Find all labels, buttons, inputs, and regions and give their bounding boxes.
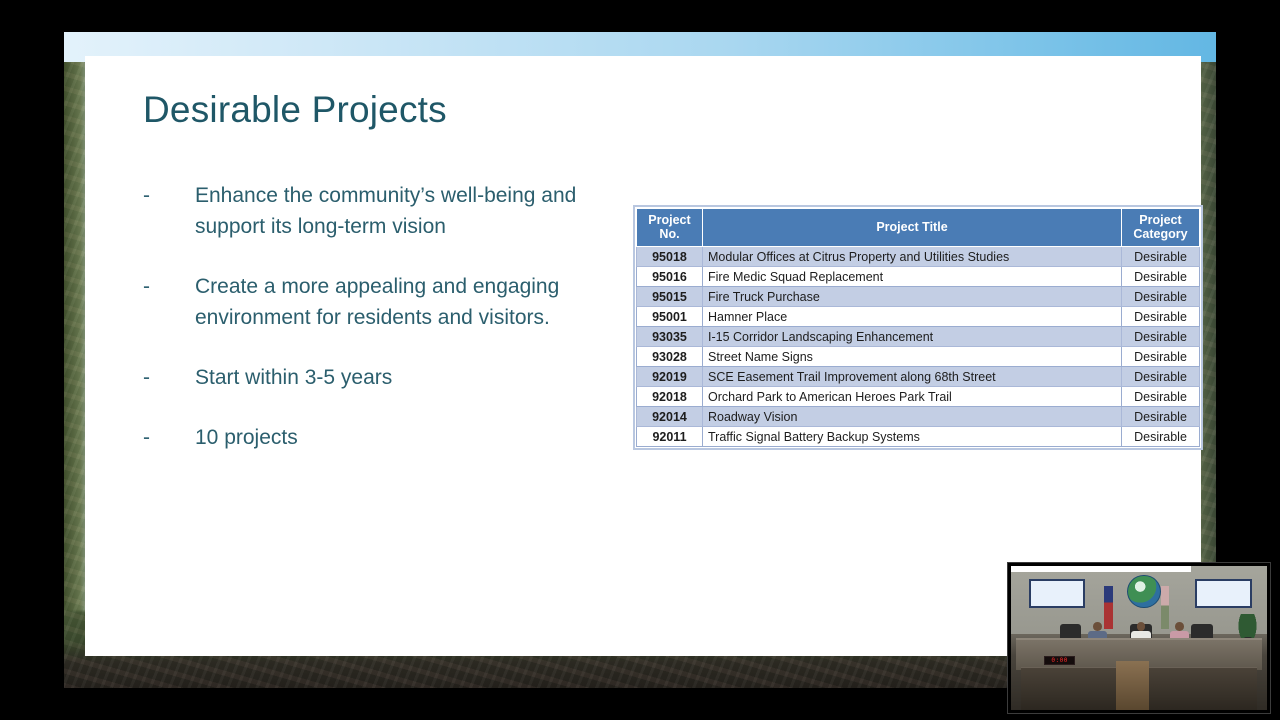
cell-project-category: Desirable — [1122, 247, 1200, 267]
speaker-timer-display: 0:00 — [1044, 656, 1075, 665]
cell-project-no: 92018 — [637, 387, 703, 407]
table-row: 92014 Roadway Vision Desirable — [637, 407, 1200, 427]
cell-project-title: Street Name Signs — [703, 347, 1122, 367]
cell-project-title: Modular Offices at Citrus Property and U… — [703, 247, 1122, 267]
state-flag-icon — [1161, 586, 1169, 629]
table-row: 92011 Traffic Signal Battery Backup Syst… — [637, 427, 1200, 447]
cell-project-title: Traffic Signal Battery Backup Systems — [703, 427, 1122, 447]
cell-project-category: Desirable — [1122, 367, 1200, 387]
person-head — [1137, 622, 1146, 630]
bullet-marker: - — [143, 362, 195, 393]
table-row: 92019 SCE Easement Trail Improvement alo… — [637, 367, 1200, 387]
list-item: - Enhance the community’s well-being and… — [143, 180, 603, 242]
bullet-marker: - — [143, 422, 195, 453]
bullet-marker: - — [143, 271, 195, 333]
bullet-marker: - — [143, 180, 195, 242]
desirable-projects-table: Project No. Project Title Project Catego… — [633, 205, 1203, 450]
cell-project-title: Fire Medic Squad Replacement — [703, 267, 1122, 287]
cell-project-category: Desirable — [1122, 387, 1200, 407]
bullet-text: Create a more appealing and engaging env… — [195, 271, 603, 333]
cell-project-category: Desirable — [1122, 287, 1200, 307]
cell-project-category: Desirable — [1122, 327, 1200, 347]
cell-project-title: Fire Truck Purchase — [703, 287, 1122, 307]
column-header-project-category: Project Category — [1122, 209, 1200, 247]
cell-project-category: Desirable — [1122, 267, 1200, 287]
cell-project-no: 95018 — [637, 247, 703, 267]
table-row: 92018 Orchard Park to American Heroes Pa… — [637, 387, 1200, 407]
cell-project-no: 92019 — [637, 367, 703, 387]
bullet-text: Start within 3-5 years — [195, 362, 603, 393]
cell-project-no: 95001 — [637, 307, 703, 327]
cell-project-title: Roadway Vision — [703, 407, 1122, 427]
cell-project-title: Hamner Place — [703, 307, 1122, 327]
table-row: 95018 Modular Offices at Citrus Property… — [637, 247, 1200, 267]
video-overlay[interactable]: 0:00 — [1008, 563, 1270, 713]
bullet-text: 10 projects — [195, 422, 603, 453]
cell-project-category: Desirable — [1122, 427, 1200, 447]
bullet-list: - Enhance the community’s well-being and… — [143, 180, 603, 453]
video-top-edge — [1011, 566, 1191, 572]
wall-monitor-right — [1195, 579, 1251, 608]
cell-project-category: Desirable — [1122, 347, 1200, 367]
table-header-row: Project No. Project Title Project Catego… — [637, 209, 1200, 247]
list-item: - 10 projects — [143, 422, 603, 453]
wall-monitor-left — [1029, 579, 1085, 608]
bullet-text: Enhance the community’s well-being and s… — [195, 180, 603, 242]
column-header-project-no: Project No. — [637, 209, 703, 247]
cell-project-category: Desirable — [1122, 407, 1200, 427]
person-head — [1175, 622, 1184, 630]
screen: Desirable Projects - Enhance the communi… — [0, 0, 1280, 720]
cell-project-no: 92014 — [637, 407, 703, 427]
page-title: Desirable Projects — [143, 89, 447, 131]
council-chamber-scene: 0:00 — [1011, 566, 1267, 710]
table-row: 95015 Fire Truck Purchase Desirable — [637, 287, 1200, 307]
list-item: - Create a more appealing and engaging e… — [143, 271, 603, 333]
cell-project-no: 93028 — [637, 347, 703, 367]
person-head — [1093, 622, 1102, 630]
cell-project-no: 92011 — [637, 427, 703, 447]
table-row: 93035 I-15 Corridor Landscaping Enhancem… — [637, 327, 1200, 347]
podium — [1116, 661, 1149, 710]
cell-project-title: Orchard Park to American Heroes Park Tra… — [703, 387, 1122, 407]
cell-project-title: I-15 Corridor Landscaping Enhancement — [703, 327, 1122, 347]
table-row: 93028 Street Name Signs Desirable — [637, 347, 1200, 367]
timer-value: 0:00 — [1051, 657, 1067, 664]
cell-project-no: 93035 — [637, 327, 703, 347]
column-header-project-title: Project Title — [703, 209, 1122, 247]
cell-project-category: Desirable — [1122, 307, 1200, 327]
cell-project-no: 95015 — [637, 287, 703, 307]
table-row: 95001 Hamner Place Desirable — [637, 307, 1200, 327]
table-row: 95016 Fire Medic Squad Replacement Desir… — [637, 267, 1200, 287]
cell-project-title: SCE Easement Trail Improvement along 68t… — [703, 367, 1122, 387]
city-seal-icon — [1127, 575, 1160, 608]
list-item: - Start within 3-5 years — [143, 362, 603, 393]
cell-project-no: 95016 — [637, 267, 703, 287]
